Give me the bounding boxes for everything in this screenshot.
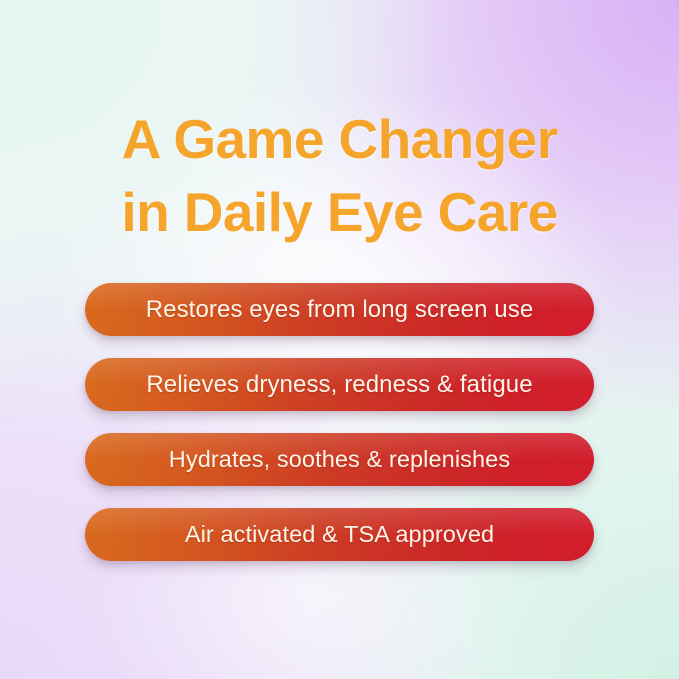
page-title: A Game Changer in Daily Eye Care (0, 0, 679, 249)
benefit-pill-1: Restores eyes from long screen use (85, 283, 594, 336)
poster-content: A Game Changer in Daily Eye Care Restore… (0, 0, 679, 679)
headline-line-1: A Game Changer (0, 103, 679, 176)
benefit-label: Restores eyes from long screen use (146, 296, 534, 324)
benefit-pill-2: Relieves dryness, redness & fatigue (85, 358, 594, 411)
benefit-pill-3: Hydrates, soothes & replenishes (85, 433, 594, 486)
benefit-list: Restores eyes from long screen use Relie… (85, 283, 594, 561)
benefit-label: Relieves dryness, redness & fatigue (146, 371, 532, 399)
benefit-label: Air activated & TSA approved (185, 521, 494, 548)
promo-poster: A Game Changer in Daily Eye Care Restore… (0, 0, 679, 679)
headline-line-2: in Daily Eye Care (0, 176, 679, 249)
benefit-pill-4: Air activated & TSA approved (85, 508, 594, 561)
benefit-label: Hydrates, soothes & replenishes (169, 446, 510, 473)
